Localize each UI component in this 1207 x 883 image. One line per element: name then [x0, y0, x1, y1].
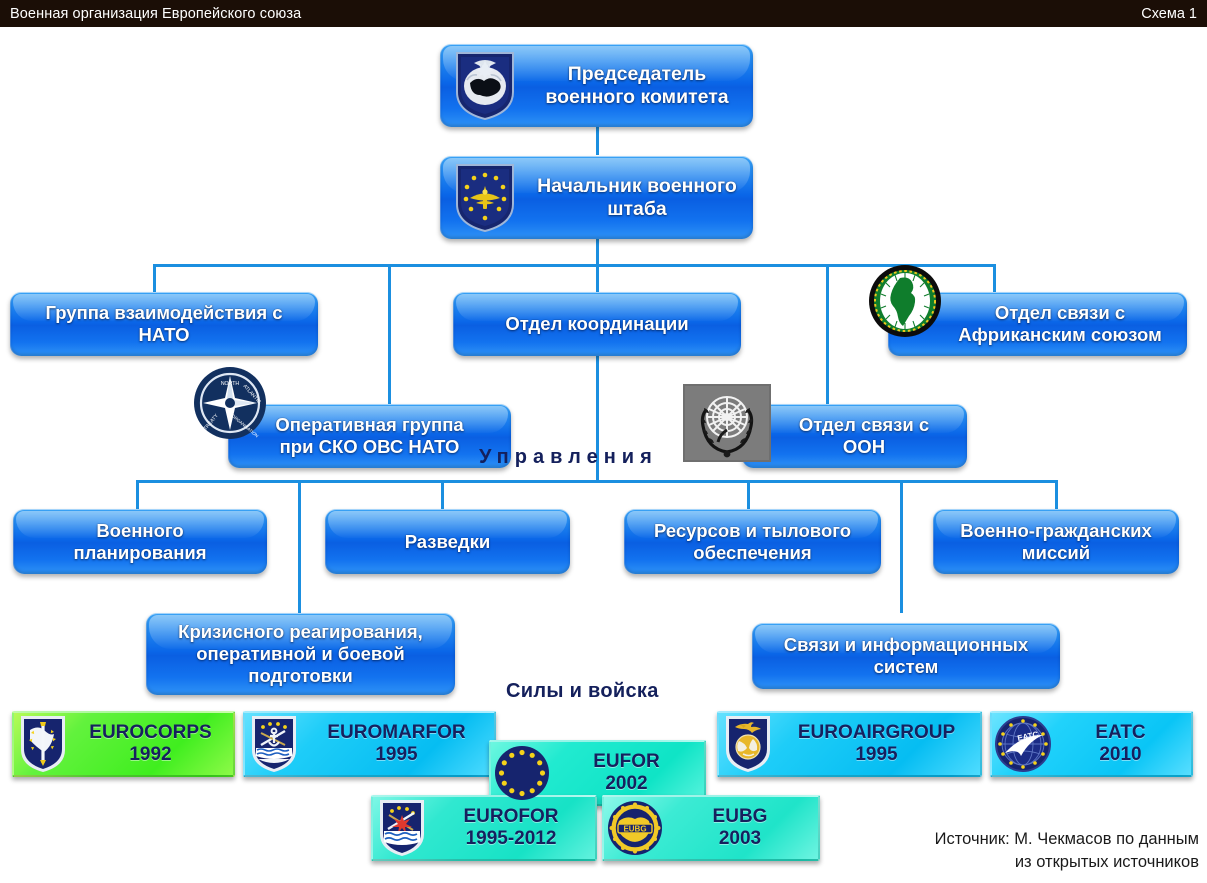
connector-drop-planning — [136, 480, 139, 509]
node-un-liaison[interactable]: Отдел связи сООН — [742, 404, 967, 468]
force-year: 1995 — [777, 744, 976, 766]
node-label: Ресурсов и тыловогообеспечения — [624, 520, 881, 564]
eurofor-shield-icon — [373, 797, 431, 859]
force-year: 1995 — [303, 744, 490, 766]
connector-drop-intelligence — [441, 480, 444, 509]
force-chip-euroairgroup[interactable]: EUROAIRGROUP 1995 — [717, 711, 982, 777]
connector-drop-civmil — [1055, 480, 1058, 509]
connector-chief-down — [596, 239, 599, 264]
node-label: Связи и информационныхсистем — [752, 634, 1060, 678]
forces-heading: Силы и войска — [506, 680, 659, 703]
directorate-civil-military-missions[interactable]: Военно-гражданскихмиссий — [933, 509, 1179, 574]
nato-compass-emblem: NORTH ATLANTIC TREATY ORGANISATION — [192, 365, 268, 441]
african-union-emblem — [867, 263, 943, 339]
node-label: Отдел связи сООН — [742, 414, 967, 458]
scheme-number-label: Схема 1 — [1141, 6, 1197, 22]
connector-drop-african-union — [993, 264, 996, 292]
force-chip-euromarfor[interactable]: EUROMARFOR 1995 — [243, 711, 496, 777]
chip-text: EUROFOR 1995-2012 — [431, 806, 597, 849]
node-coordination-department[interactable]: Отдел координации — [453, 292, 741, 356]
connector-drop-nato-group — [153, 264, 156, 292]
connector-chairman-to-chief — [596, 127, 599, 155]
connector-drop-coordination — [596, 264, 599, 292]
chip-text: EUROAIRGROUP 1995 — [777, 722, 982, 765]
connector-drop-resources — [747, 480, 750, 509]
force-chip-eurocorps[interactable]: EUROCORPS 1992 — [12, 711, 235, 777]
org-chart-canvas: Председательвоенного комитета — [0, 27, 1207, 883]
eufor-stars-icon — [491, 742, 553, 804]
connector-drop-un — [826, 264, 829, 404]
node-label: Военно-гражданскихмиссий — [933, 520, 1179, 564]
chip-text: EUROMARFOR 1995 — [303, 722, 496, 765]
title-bar: Военная организация Европейского союза С… — [0, 0, 1207, 27]
force-name: EUBG — [713, 806, 768, 827]
eubg-circle-icon: EUBG — [604, 797, 666, 859]
eatc-circle-icon: EATC — [992, 713, 1054, 775]
force-year: 2002 — [553, 773, 700, 795]
chip-text: EUFOR 2002 — [553, 751, 706, 794]
force-year: 2010 — [1054, 744, 1187, 766]
force-name: EUROFOR — [464, 806, 559, 827]
node-label: Отдел координации — [453, 313, 741, 335]
euromarfor-shield-icon — [245, 713, 303, 775]
directorate-resources-logistics[interactable]: Ресурсов и тыловогообеспечения — [624, 509, 881, 574]
eu-military-committee-emblem — [448, 49, 522, 123]
connector-drop-comms — [900, 480, 903, 613]
node-label: Разведки — [325, 531, 570, 553]
directorate-crisis-response-training[interactable]: Кризисного реагирования,оперативной и бо… — [146, 613, 455, 695]
chip-text: EUBG 2003 — [666, 806, 820, 849]
node-chairman-military-committee[interactable]: Председательвоенного комитета — [440, 44, 753, 127]
node-chief-of-military-staff[interactable]: Начальник военногоштаба — [440, 156, 753, 239]
force-name: EUROAIRGROUP — [798, 722, 955, 743]
source-line-1: Источник: М. Чекмасов по данным — [935, 828, 1199, 850]
node-label: Оперативная группапри СКО ОВС НАТО — [228, 414, 511, 458]
source-note: Источник: М. Чекмасов по данным из откры… — [935, 828, 1199, 873]
force-year: 1992 — [72, 744, 229, 766]
force-name: EUFOR — [593, 751, 660, 772]
connector-bus-directorates — [136, 480, 1056, 483]
svg-text:NORTH: NORTH — [221, 381, 240, 387]
node-label: Группа взаимодействия сНАТО — [10, 302, 318, 346]
node-label: Военногопланирования — [13, 520, 267, 564]
force-name: EUROCORPS — [89, 722, 211, 743]
force-name: EUROMARFOR — [327, 722, 465, 743]
force-chip-eurofor[interactable]: EUROFOR 1995-2012 — [371, 795, 597, 861]
source-line-2: из открытых источников — [935, 851, 1199, 873]
page-title: Военная организация Европейского союза — [10, 6, 301, 22]
directorate-military-planning[interactable]: Военногопланирования — [13, 509, 267, 574]
directorate-communications-information-systems[interactable]: Связи и информационныхсистем — [752, 623, 1060, 689]
node-nato-liaison-group[interactable]: Группа взаимодействия сНАТО — [10, 292, 318, 356]
force-chip-eubg[interactable]: EUBG EUBG 2003 — [602, 795, 820, 861]
svg-text:EUBG: EUBG — [623, 824, 646, 833]
chip-text: EATC 2010 — [1054, 722, 1193, 765]
force-chip-eatc[interactable]: EATC EATC 2010 — [990, 711, 1193, 777]
connector-drop-crisis — [298, 480, 301, 613]
force-year: 1995-2012 — [431, 828, 591, 850]
united-nations-emblem — [683, 384, 771, 462]
force-year: 2003 — [666, 828, 814, 850]
force-name: EATC — [1095, 722, 1145, 743]
node-nato-task-group[interactable]: Оперативная группапри СКО ОВС НАТО — [228, 404, 511, 468]
eurocorps-shield-icon — [14, 713, 72, 775]
connector-drop-taskgroup — [388, 264, 391, 404]
node-african-union-liaison[interactable]: Отдел связи сАфриканским союзом — [888, 292, 1187, 356]
node-label: Кризисного реагирования,оперативной и бо… — [146, 621, 455, 686]
euroairgroup-shield-icon — [719, 713, 777, 775]
chip-text: EUROCORPS 1992 — [72, 722, 235, 765]
eu-military-staff-emblem — [448, 161, 522, 235]
directorate-intelligence[interactable]: Разведки — [325, 509, 570, 574]
